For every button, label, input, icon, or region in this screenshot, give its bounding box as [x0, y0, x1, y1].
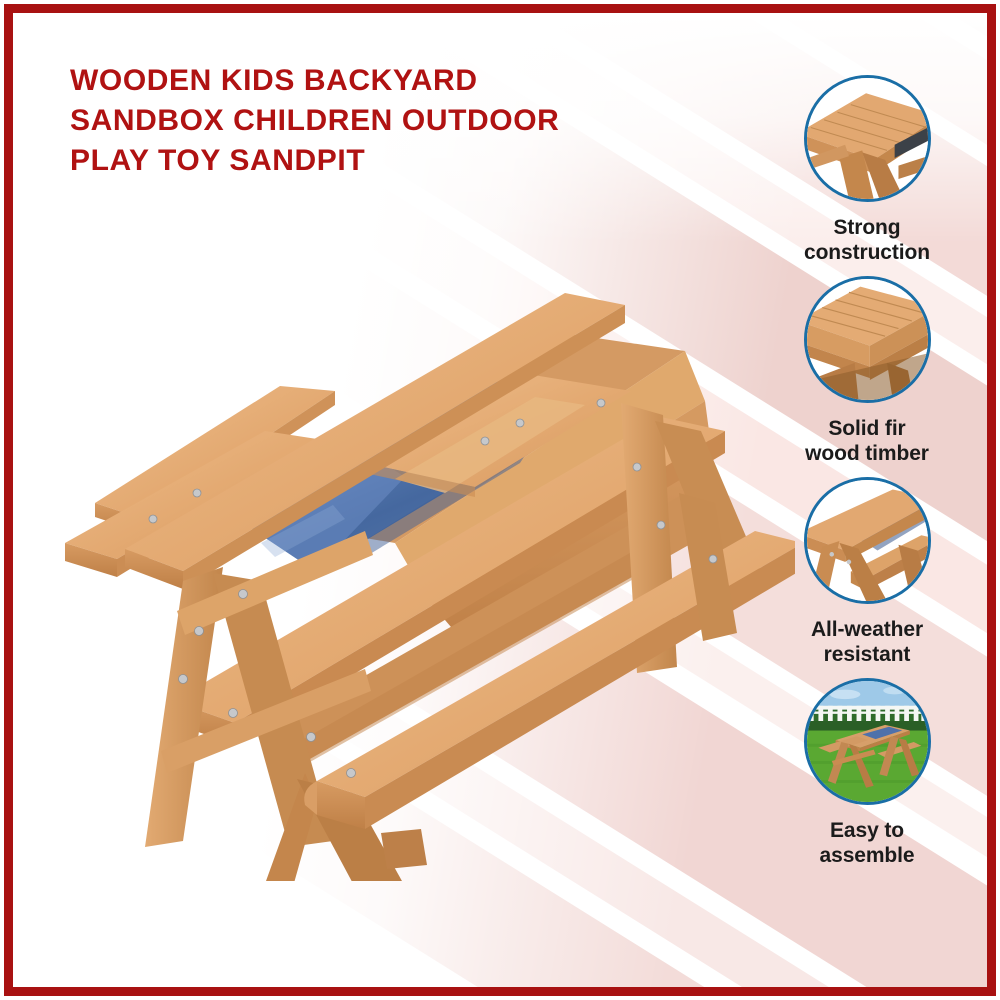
feature-solid-fir-wood-timber[interactable]: Solid fir wood timber [769, 276, 965, 466]
feature-all-weather-resistant[interactable]: All-weather resistant [769, 477, 965, 667]
garden-scene-table-icon [807, 681, 928, 802]
poster-frame: WOODEN KIDS BACKYARD SANDBOX CHILDREN OU… [4, 4, 996, 996]
feature-list: Strong construction [769, 75, 965, 879]
thumbnail-blue-liner-sandbox[interactable] [804, 477, 931, 604]
thumbnail-tabletop-corner[interactable] [804, 75, 931, 202]
feature-label: Solid fir wood timber [805, 416, 929, 466]
tabletop-corner-closeup-icon [807, 78, 928, 199]
product-hero-image [65, 281, 795, 881]
near-bench-support [381, 829, 427, 869]
picnic-table-sandbox-illustration [65, 281, 795, 881]
feature-label: Easy to assemble [820, 818, 915, 868]
poster-canvas: WOODEN KIDS BACKYARD SANDBOX CHILDREN OU… [13, 13, 987, 987]
product-poster: WOODEN KIDS BACKYARD SANDBOX CHILDREN OU… [0, 0, 1000, 1000]
feature-easy-to-assemble[interactable]: Easy to assemble [769, 678, 965, 868]
blue-liner-sandbox-closeup-icon [807, 480, 928, 601]
thumbnail-timber-planks[interactable] [804, 276, 931, 403]
page-title: WOODEN KIDS BACKYARD SANDBOX CHILDREN OU… [70, 61, 710, 181]
thumbnail-garden-scene[interactable] [804, 678, 931, 805]
feature-strong-construction[interactable]: Strong construction [769, 75, 965, 265]
feature-label: All-weather resistant [811, 617, 923, 667]
timber-planks-closeup-icon [807, 279, 928, 400]
feature-label: Strong construction [804, 215, 930, 265]
